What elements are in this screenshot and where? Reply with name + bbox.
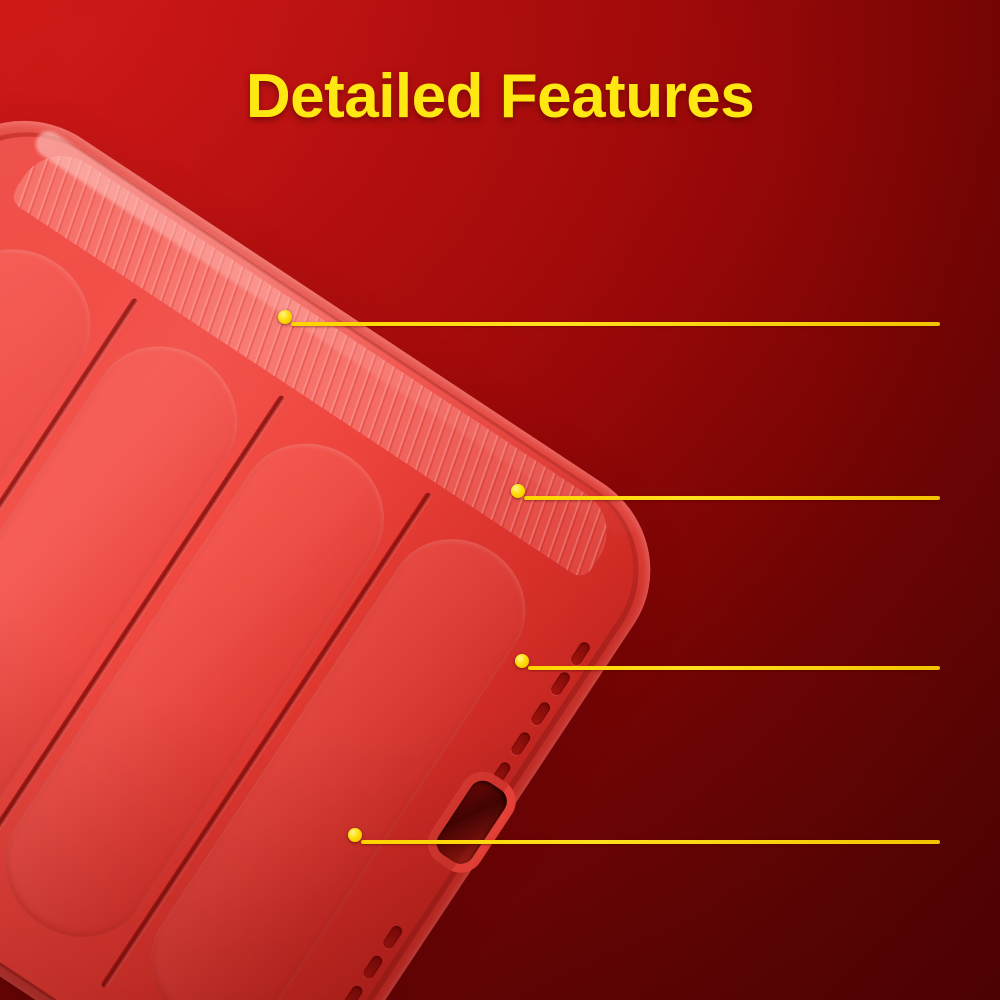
callout-marker-dot bbox=[278, 310, 292, 324]
product-feature-infographic: Detailed Features Superior GripRaised Si… bbox=[0, 0, 1000, 1000]
page-title: Detailed Features bbox=[0, 66, 1000, 128]
callout-leader-line bbox=[361, 840, 940, 844]
callout-marker-dot bbox=[515, 654, 529, 668]
background-vignette bbox=[0, 0, 1000, 1000]
callout-leader-line bbox=[291, 322, 940, 326]
callout-leader-line bbox=[524, 496, 940, 500]
callout-leader-line bbox=[528, 666, 940, 670]
callout-marker-dot bbox=[348, 828, 362, 842]
callout-marker-dot bbox=[511, 484, 525, 498]
